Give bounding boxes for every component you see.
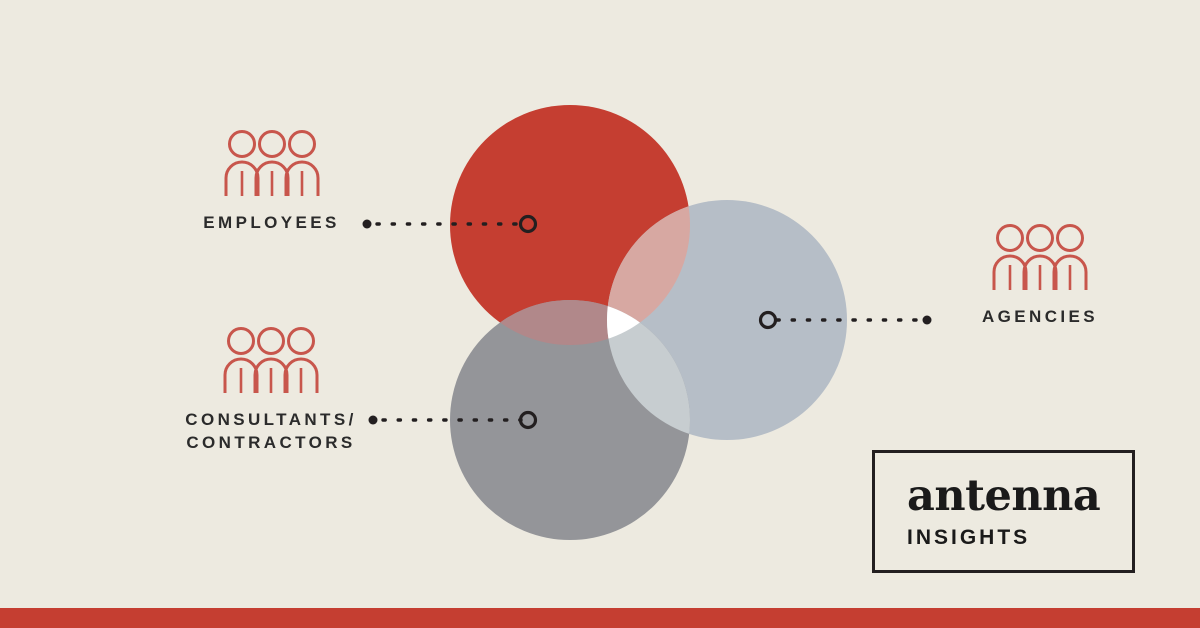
legend-label-consultants-line2: CONTRACTORS [140,432,402,455]
people-group-icon [992,222,1088,292]
legend-item-consultants: CONSULTANTS/ CONTRACTORS [140,325,402,455]
legend-item-employees: EMPLOYEES [184,128,359,235]
people-group-icon [224,128,320,198]
people-group-icon [223,325,319,395]
legend-label-consultants-line1: CONSULTANTS/ [140,409,402,432]
legend-label-agencies: AGENCIES [940,306,1140,329]
poster-canvas: EMPLOYEES CONSULTANTS/ CONTRACTORS [0,0,1200,628]
bottom-accent-bar [0,608,1200,628]
connector-dot-employees [363,220,372,229]
legend-item-agencies: AGENCIES [940,222,1140,329]
legend-label-employees: EMPLOYEES [184,212,359,235]
brand-logo: antenna INSIGHTS [872,450,1135,573]
connector-dot-agencies [923,316,932,325]
brand-tagline: INSIGHTS [907,527,1030,548]
brand-name: antenna [907,475,1100,518]
